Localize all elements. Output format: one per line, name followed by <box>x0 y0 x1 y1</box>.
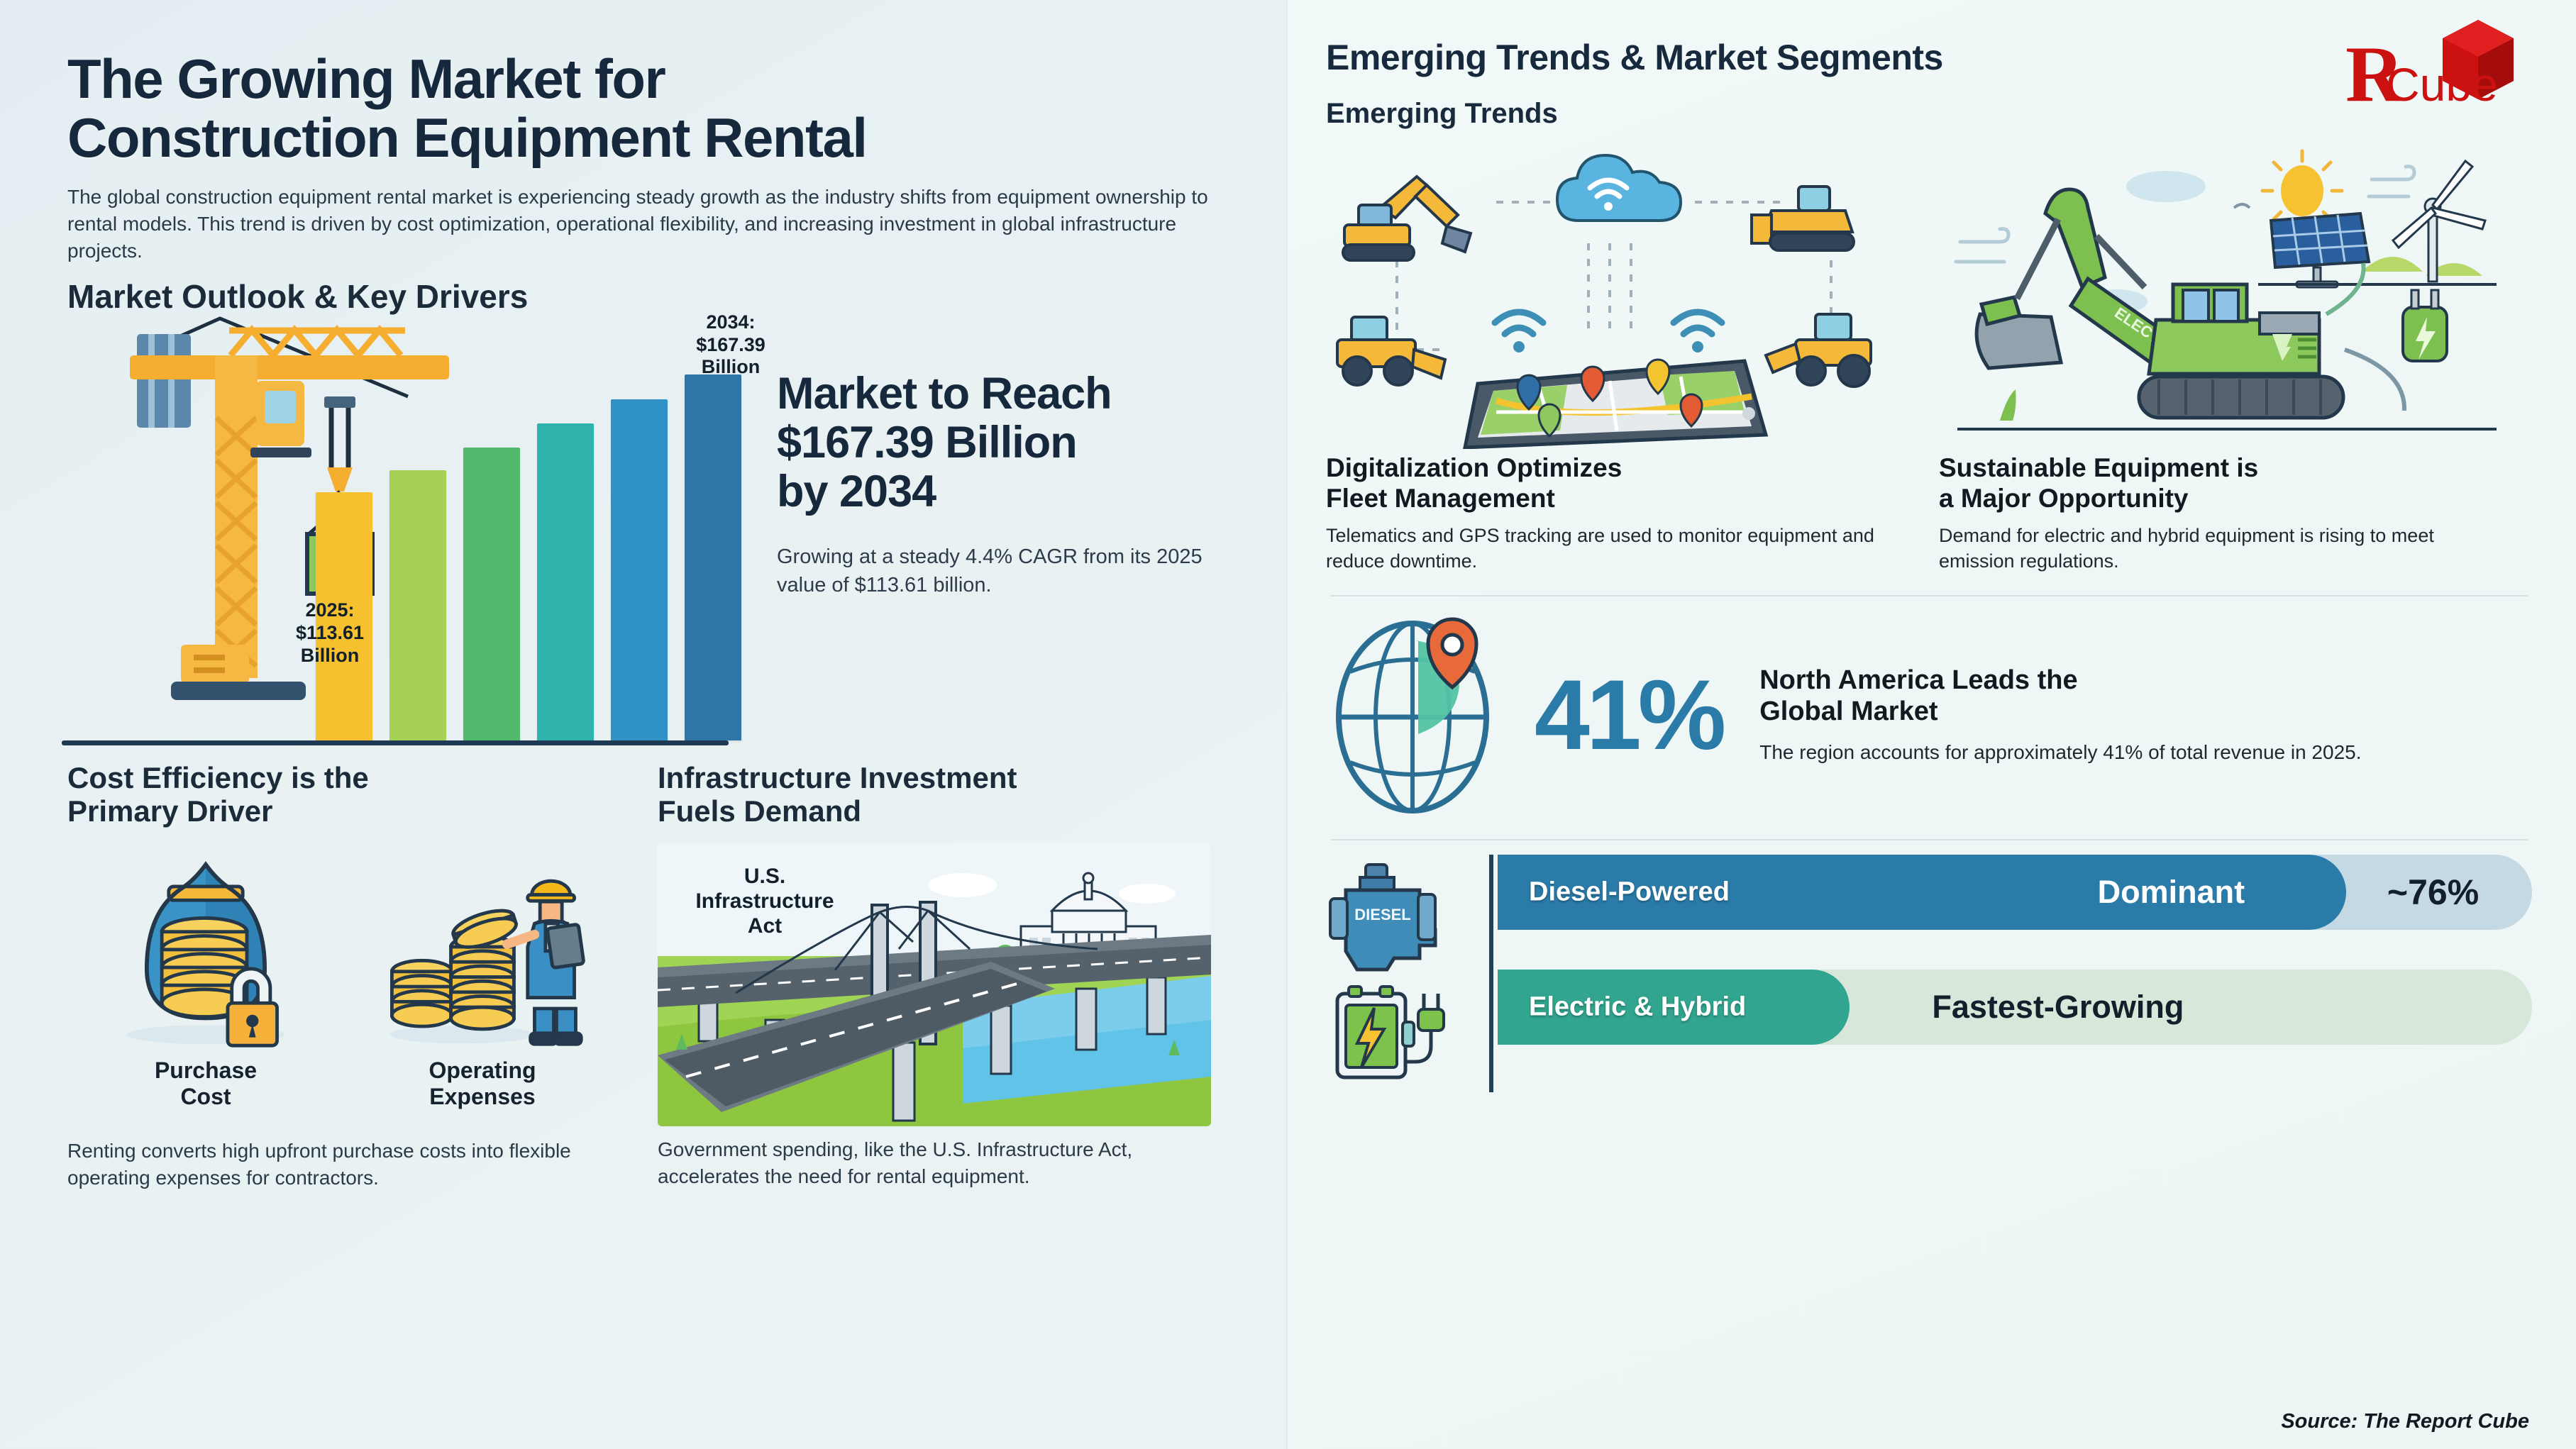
diesel-label: DIESEL <box>1354 906 1410 923</box>
bar-series <box>316 347 741 740</box>
headline-stat-line1: Market to Reach <box>777 370 1245 418</box>
bar-2034 <box>685 374 741 740</box>
solar-panel-icon <box>2271 213 2369 287</box>
cost-card-title-l2: Primary Driver <box>67 794 621 828</box>
telematics-fleet-icon <box>1326 137 1901 449</box>
infra-card-body: Government spending, like the U.S. Infra… <box>658 1136 1211 1191</box>
segment-row-1: Electric & HybridFastest-Growing <box>1498 970 2532 1045</box>
diesel-engine-icon: DIESEL <box>1330 865 1435 970</box>
globe-pin-icon <box>1326 612 1518 818</box>
bar-2027 <box>389 470 446 740</box>
emerging-trends-row: Digitalization Optimizes Fleet Managemen… <box>1326 137 2532 574</box>
trend-digitalization-body: Telematics and GPS tracking are used to … <box>1326 523 1901 574</box>
main-title-line2: Construction Equipment Rental <box>67 109 1238 167</box>
region-body: The region accounts for approximately 41… <box>1759 739 2361 766</box>
trend-digitalization: Digitalization Optimizes Fleet Managemen… <box>1326 137 1901 574</box>
main-title-line1: The Growing Market for <box>67 50 1238 109</box>
plug-icon <box>2403 290 2447 361</box>
segment-value: ~76% <box>2387 872 2479 913</box>
segment-icons: DIESEL <box>1326 855 1489 1092</box>
bar-2029 <box>463 448 520 740</box>
trend-digitalization-heading-l1: Digitalization Optimizes <box>1326 453 1901 483</box>
bar-2031 <box>537 423 594 740</box>
excavator-icon <box>1343 177 1471 260</box>
headline-stat-line3: by 2034 <box>777 467 1245 516</box>
card-cost-efficiency: Cost Efficiency is the Primary Driver <box>67 761 621 1192</box>
region-text: North America Leads the Global Market Th… <box>1759 665 2361 766</box>
tablet-map-icon <box>1465 360 1766 448</box>
segment-bars: Diesel-PoweredDominant~76%Electric & Hyb… <box>1489 855 2532 1092</box>
segment-name: Diesel-Powered <box>1529 877 1730 908</box>
region-highlight: 41% North America Leads the Global Marke… <box>1326 612 2532 818</box>
trend-digitalization-heading-l2: Fleet Management <box>1326 483 1901 513</box>
headline-stat-subtext: Growing at a steady 4.4% CAGR from its 2… <box>777 543 1245 599</box>
source-attribution: Source: The Report Cube <box>2281 1410 2529 1433</box>
card-infrastructure: Infrastructure Investment Fuels Demand U… <box>658 761 1211 1192</box>
battery-plug-icon <box>1337 987 1444 1077</box>
cost-figure-operating-label: OperatingExpenses <box>365 1057 599 1111</box>
report-cube-logo: Я Cube <box>2328 13 2533 126</box>
infra-card-title-l2: Fuels Demand <box>658 794 1211 828</box>
infographic-page: The Growing Market for Construction Equi… <box>0 0 2576 1449</box>
wifi-icon-2 <box>1674 312 1722 334</box>
chart-label-2025: 2025: $113.61 Billion <box>273 599 387 667</box>
backhoe-icon <box>1766 314 1871 387</box>
money-bag-lock-icon <box>99 844 312 1050</box>
fuel-segment-chart: DIESEL Diesel-Pow <box>1326 855 2532 1092</box>
infra-act-label: U.S. Infrastructure Act <box>683 864 846 939</box>
headline-stat-line2: $167.39 Billion <box>777 418 1245 467</box>
segment-name: Electric & Hybrid <box>1529 992 1746 1023</box>
right-panel: Emerging Trends & Market Segments Emergi… <box>1288 0 2576 1449</box>
segment-row-0: Diesel-PoweredDominant~76% <box>1498 855 2532 930</box>
chart-label-2034: 2034: $167.39 Billion <box>667 311 795 379</box>
trend-sustainable-heading-l2: a Major Opportunity <box>1939 483 2514 513</box>
trend-sustainable-body: Demand for electric and hybrid equipment… <box>1939 523 2514 574</box>
divider-1 <box>1330 595 2528 596</box>
region-percent: 41% <box>1535 665 1723 765</box>
cost-figure-purchase-label: PurchaseCost <box>89 1057 323 1111</box>
lower-cards: Cost Efficiency is the Primary Driver <box>67 761 1238 1192</box>
cost-card-title-l1: Cost Efficiency is the <box>67 761 621 794</box>
trend-sustainable: ELECTRIC <box>1939 137 2514 574</box>
region-heading-l1: North America Leads the <box>1759 665 2361 696</box>
wheel-loader-icon <box>1337 317 1445 385</box>
bridge-illustration: U.S. Infrastructure Act <box>658 843 1211 1126</box>
left-panel: The Growing Market for Construction Equi… <box>0 0 1288 1449</box>
market-growth-chart: 2025: $113.61 Billion 2034: $167.39 Bill… <box>67 320 1245 745</box>
intro-paragraph: The global construction equipment rental… <box>67 184 1231 264</box>
segment-status: Fastest-Growing <box>1932 989 2184 1026</box>
infra-card-title-l1: Infrastructure Investment <box>658 761 1211 794</box>
bar-2033 <box>611 399 668 740</box>
cloud-icon <box>1557 155 1681 221</box>
cost-figure-operating: OperatingExpenses <box>365 844 599 1128</box>
chart-callout: Market to Reach $167.39 Billion by 2034 … <box>777 370 1245 599</box>
cost-card-body: Renting converts high upfront purchase c… <box>67 1138 621 1192</box>
cost-figures: PurchaseCost <box>67 844 621 1128</box>
trend-sustainable-heading-l1: Sustainable Equipment is <box>1939 453 2514 483</box>
bulldozer-icon <box>1752 187 1854 250</box>
segment-status: Dominant <box>2098 874 2245 911</box>
electric-excavator-icon: ELECTRIC <box>1939 137 2514 449</box>
chart-axis <box>62 740 729 745</box>
chart-plot-area: 2025: $113.61 Billion 2034: $167.39 Bill… <box>67 320 734 745</box>
logo-wordmark: Cube <box>2386 58 2498 111</box>
region-heading-l2: Global Market <box>1759 696 2361 727</box>
divider-2 <box>1330 839 2528 840</box>
coin-stacks-worker-icon <box>376 844 589 1050</box>
page-title: The Growing Market for Construction Equi… <box>67 50 1238 167</box>
wifi-icon <box>1495 312 1543 334</box>
cost-figure-purchase: PurchaseCost <box>89 844 323 1128</box>
